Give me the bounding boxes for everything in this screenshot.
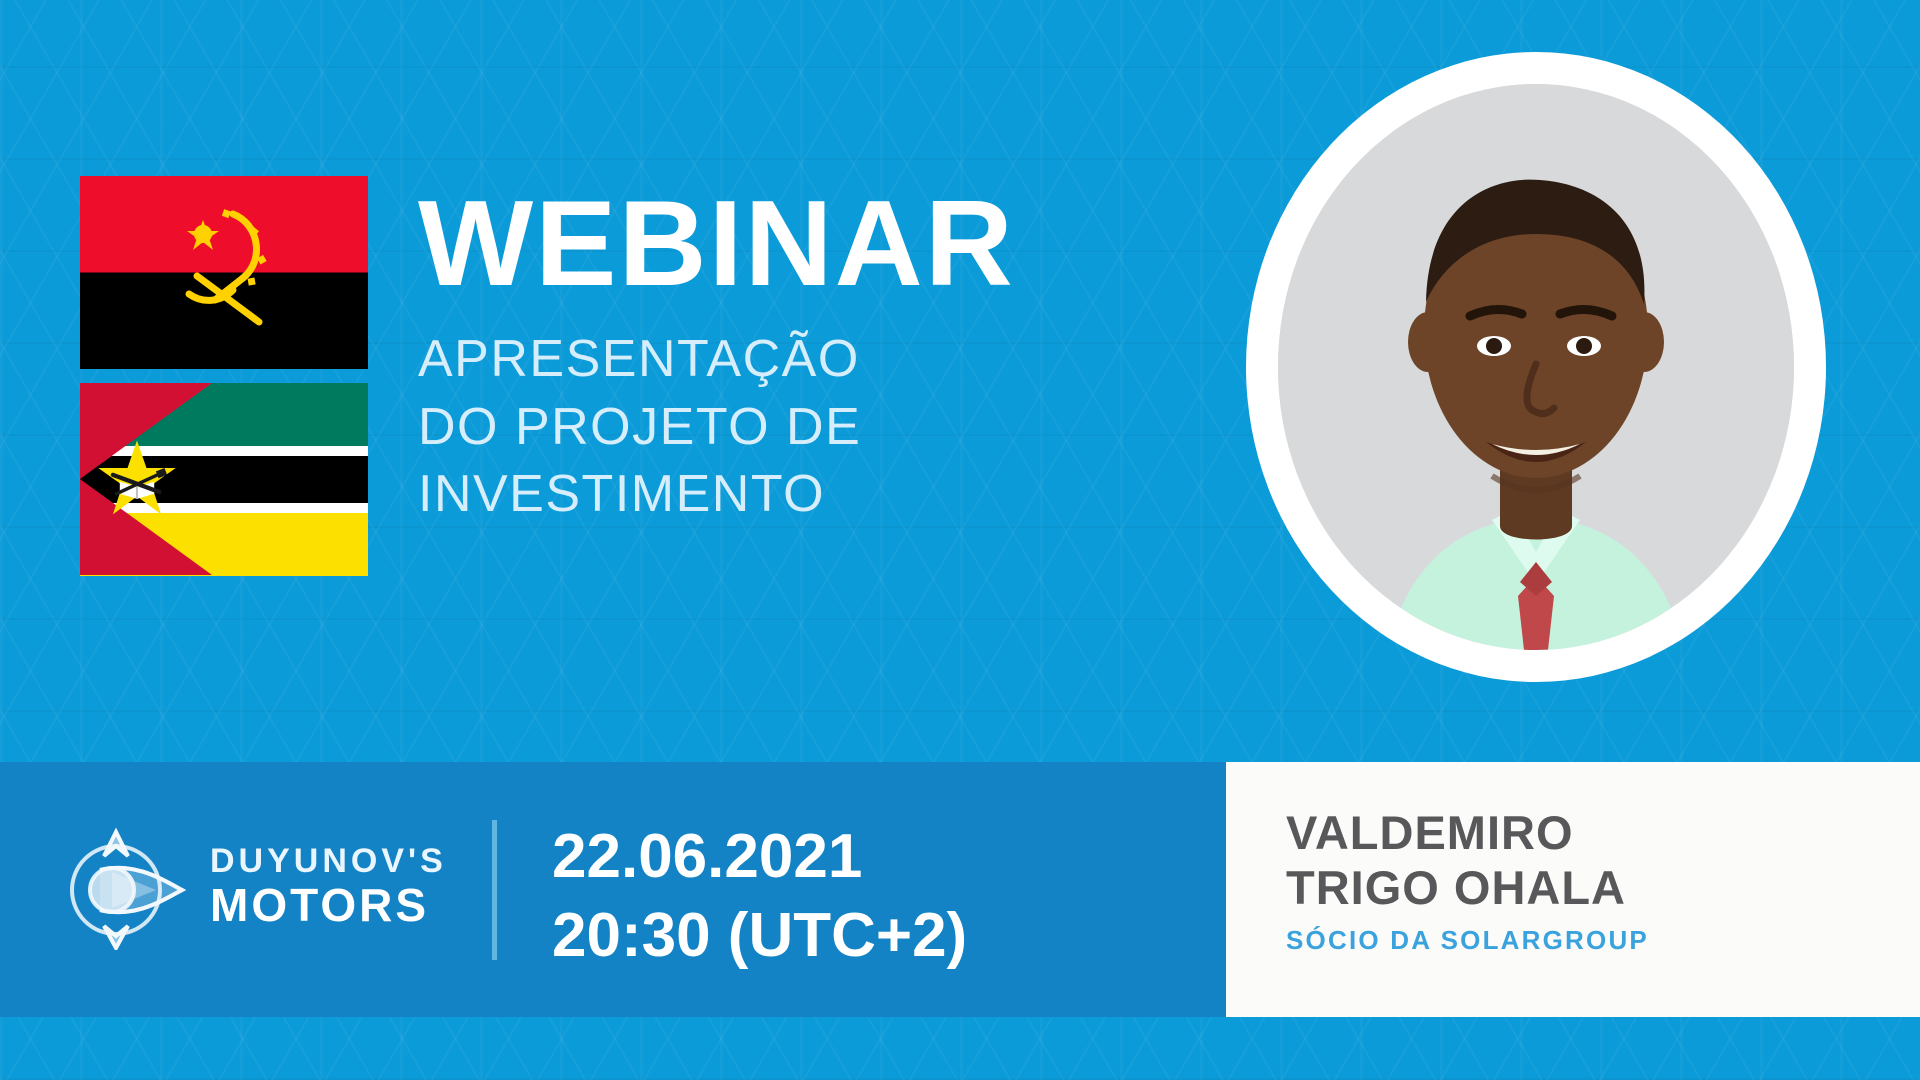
page-subtitle: APRESENTAÇÃO DO PROJETO DE INVESTIMENTO bbox=[418, 326, 1118, 529]
speaker-role: SÓCIO DA SOLARGROUP bbox=[1286, 925, 1649, 956]
brand-logo-text: DUYUNOV'S MOTORS bbox=[210, 844, 447, 928]
speaker-name: VALDEMIRO TRIGO OHALA bbox=[1286, 806, 1649, 915]
duyunov-motors-logo-icon bbox=[60, 822, 188, 950]
subtitle-line-3: INVESTIMENTO bbox=[418, 461, 1118, 529]
headline-block: WEBINAR APRESENTAÇÃO DO PROJETO DE INVES… bbox=[418, 182, 1118, 529]
speaker-portrait-ring bbox=[1246, 52, 1826, 682]
brand-logo[interactable]: DUYUNOV'S MOTORS bbox=[60, 822, 447, 950]
subtitle-line-2: DO PROJETO DE bbox=[418, 394, 1118, 462]
event-datetime: 22.06.2021 20:30 (UTC+2) bbox=[552, 817, 967, 976]
avatar bbox=[1278, 84, 1794, 650]
event-time: 20:30 (UTC+2) bbox=[552, 896, 967, 975]
event-date: 22.06.2021 bbox=[552, 817, 967, 896]
page-title: WEBINAR bbox=[418, 182, 1118, 304]
vertical-divider bbox=[492, 820, 497, 960]
brand-line-1: DUYUNOV'S bbox=[210, 844, 447, 878]
brand-line-2: MOTORS bbox=[210, 882, 447, 928]
subtitle-line-1: APRESENTAÇÃO bbox=[418, 326, 1118, 394]
hero-section: WEBINAR APRESENTAÇÃO DO PROJETO DE INVES… bbox=[0, 0, 1920, 762]
mozambique-flag bbox=[80, 383, 368, 576]
angola-flag bbox=[80, 176, 368, 369]
webinar-banner: WEBINAR APRESENTAÇÃO DO PROJETO DE INVES… bbox=[0, 0, 1920, 1080]
portrait-photo-icon bbox=[1278, 84, 1794, 650]
speaker-info: VALDEMIRO TRIGO OHALA SÓCIO DA SOLARGROU… bbox=[1286, 806, 1649, 956]
speaker-name-line-1: VALDEMIRO bbox=[1286, 806, 1649, 861]
speaker-name-line-2: TRIGO OHALA bbox=[1286, 861, 1649, 916]
angola-emblem-icon bbox=[163, 198, 285, 348]
speaker-card: VALDEMIRO TRIGO OHALA SÓCIO DA SOLARGROU… bbox=[1226, 762, 1920, 1017]
footer-strip bbox=[0, 1017, 1920, 1080]
bottom-bar: DUYUNOV'S MOTORS 22.06.2021 20:30 (UTC+2… bbox=[0, 762, 1226, 1017]
mozambique-emblem-icon bbox=[94, 437, 180, 523]
flags-group bbox=[80, 176, 368, 576]
